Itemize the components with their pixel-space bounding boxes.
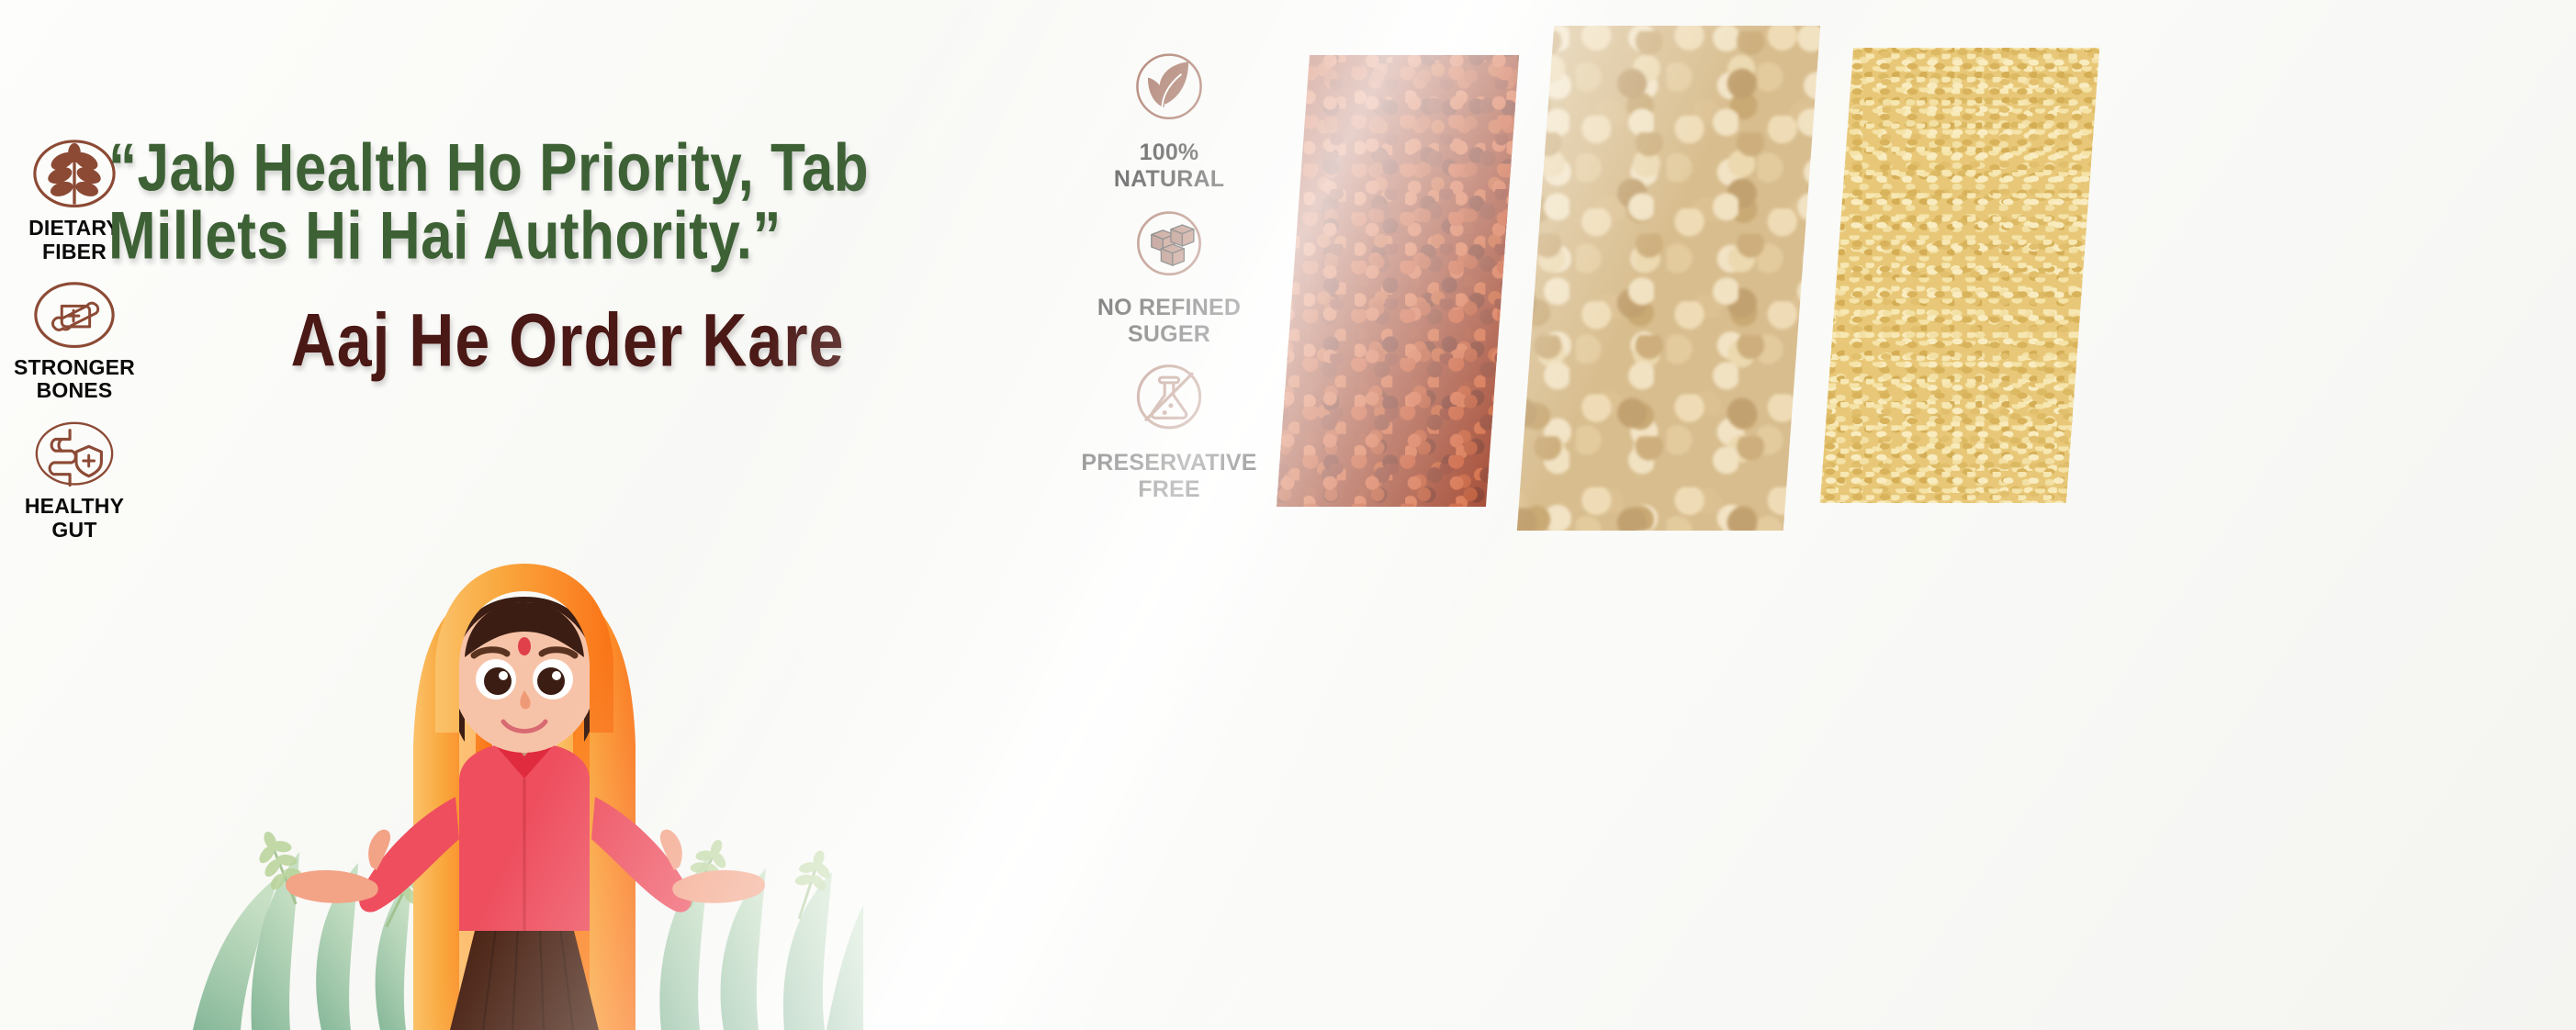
no-flask-icon xyxy=(1125,358,1213,446)
benefit-healthy-gut: HEALTHY GUT xyxy=(7,416,141,543)
sorghum-grain-texture xyxy=(1517,26,1820,531)
benefit-label-line2: GUT xyxy=(25,519,124,543)
indian-woman-illustration xyxy=(184,516,863,1030)
headline-block: “Jab Health Ho Priority, Tab Millets Hi … xyxy=(108,134,1027,369)
feature-no-refined-sugar: NO REFINED SUGER xyxy=(1082,203,1256,347)
gut-shield-icon xyxy=(29,416,119,489)
headline-quote: “Jab Health Ho Priority, Tab Millets Hi … xyxy=(108,134,1027,271)
feature-100-natural: 100% NATURAL xyxy=(1082,48,1256,192)
sorghum-millet-panel xyxy=(1517,26,1820,531)
feature-preservative-free: PRESERVATIVE FREE xyxy=(1082,358,1256,502)
ragi-grain-texture xyxy=(1277,55,1519,507)
feature-label-line1: 100% xyxy=(1114,140,1224,166)
feature-label-line1: NO REFINED xyxy=(1097,295,1241,321)
benefit-label-line2: FIBER xyxy=(28,241,120,264)
feature-label-line2: SUGER xyxy=(1097,321,1241,348)
illustration-area xyxy=(184,516,863,1030)
face xyxy=(453,602,596,753)
headline-line-1: “Jab Health Ho Priority, Tab xyxy=(108,130,869,205)
ragi-millet-panel xyxy=(1277,55,1519,507)
features-column: 100% NATURAL xyxy=(1082,48,1256,513)
wheat-sprig-icon xyxy=(29,138,119,211)
headline-line-2: Millets Hi Hai Authority.” xyxy=(108,203,1027,272)
foxtail-grain-texture xyxy=(1820,48,2099,503)
millet-promo-banner: DIETARY FIBER STRONGER BONES xyxy=(0,0,2576,1030)
cta-text: Aaj He Order Kare xyxy=(108,297,1027,384)
blouse xyxy=(459,729,590,931)
benefit-label-line1: DIETARY xyxy=(28,217,120,241)
feature-label-line1: PRESERVATIVE xyxy=(1081,450,1256,476)
foxtail-millet-panel xyxy=(1820,48,2099,503)
bone-shield-icon xyxy=(29,277,119,351)
two-leaves-icon xyxy=(1125,48,1213,136)
feature-label-line2: NATURAL xyxy=(1114,166,1224,193)
sugar-cubes-icon xyxy=(1125,203,1213,291)
feature-label-line2: FREE xyxy=(1081,476,1256,503)
benefit-label-line1: HEALTHY xyxy=(25,495,124,519)
bindi xyxy=(518,637,531,655)
